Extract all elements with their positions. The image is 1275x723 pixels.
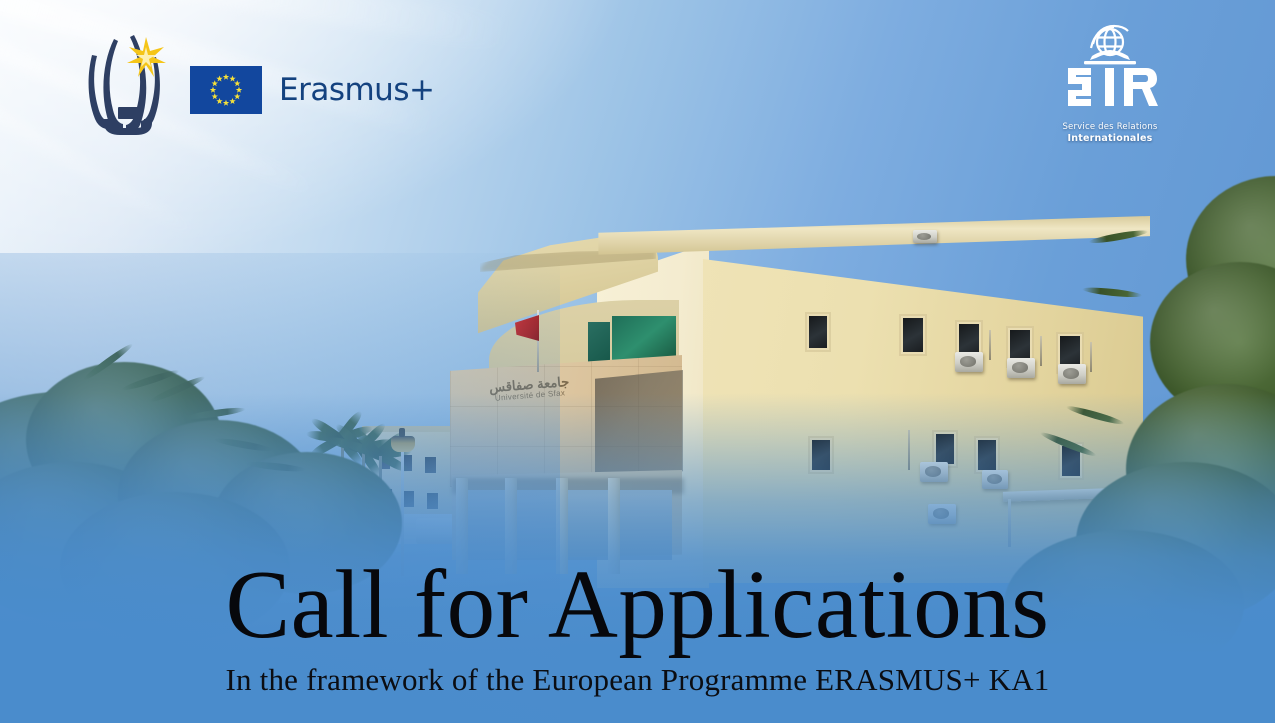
sri-caption-line2: Internationales: [1046, 133, 1174, 145]
roof-vent-unit: [913, 230, 937, 243]
ac-pipe: [989, 330, 991, 360]
poster-canvas: جامعة صفاقس Université de Sfax: [0, 0, 1275, 723]
air-conditioner: [1058, 364, 1086, 384]
building-green-glazing: [612, 316, 676, 362]
ac-pipe: [1040, 336, 1042, 366]
page-title: Call for Applications: [0, 556, 1275, 653]
page-subtitle: In the framework of the European Program…: [0, 664, 1275, 695]
sri-caption: Service des Relations Internationales: [1046, 122, 1174, 145]
roof-cornice: [590, 216, 1150, 258]
building-green-glazing: [588, 322, 610, 362]
university-of-sfax-logo: [78, 27, 174, 139]
erasmus-plus-logo: Erasmus+: [190, 66, 434, 114]
sri-caption-line1: Service des Relations: [1046, 122, 1174, 133]
building-window: [807, 314, 829, 350]
sri-logo: Service des Relations Internationales: [1046, 22, 1174, 162]
erasmus-wordmark: Erasmus+: [279, 72, 434, 108]
olive-branch: [1082, 286, 1142, 299]
european-union-flag: [190, 66, 262, 114]
building-window: [901, 316, 925, 354]
air-conditioner: [1007, 358, 1035, 378]
air-conditioner: [955, 352, 983, 372]
ac-pipe: [1090, 342, 1092, 372]
